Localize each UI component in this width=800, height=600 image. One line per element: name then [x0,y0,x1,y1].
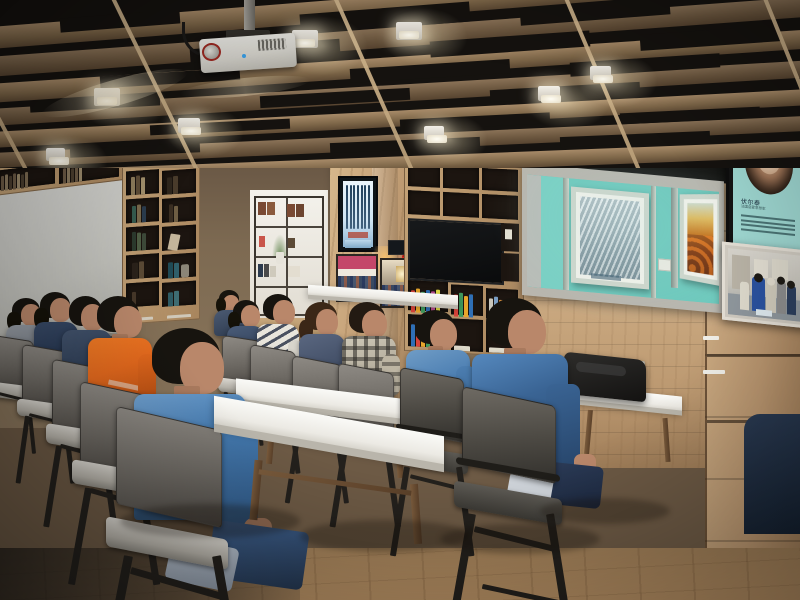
ceiling-downlight [46,148,65,161]
projector-mount-pole [244,0,255,34]
ceiling-downlight [424,126,444,140]
projector-vent [258,38,287,51]
ceiling-downlight [178,118,200,133]
slide-artwork-mono [571,186,649,289]
person-foreground-partial [744,414,800,534]
training-room-photo: 伏尔泰 法国启蒙思想家 [0,0,800,600]
ceiling-downlight [396,22,422,40]
screen-surface [522,168,724,313]
projected-slide [527,174,719,303]
voltaire-subtitle: 法国启蒙思想家 [741,204,766,212]
slide-wall-label [658,258,671,271]
embedded-television [408,218,504,285]
display-content-exhibition-photo [728,248,800,322]
calligraphy-poster [338,176,378,252]
slide-artwork-autumn [680,194,719,286]
ceiling-downlight [590,66,611,80]
voltaire-description-lines [741,214,795,238]
ceiling-projector [196,14,300,76]
room-interior: 伏尔泰 法国启蒙思想家 [0,168,800,600]
wall-mounted-display [722,241,800,328]
ceiling-downlight [538,86,560,101]
coffered-ceiling [0,0,800,180]
voltaire-portrait-image [745,168,793,197]
projection-screen [516,168,726,328]
